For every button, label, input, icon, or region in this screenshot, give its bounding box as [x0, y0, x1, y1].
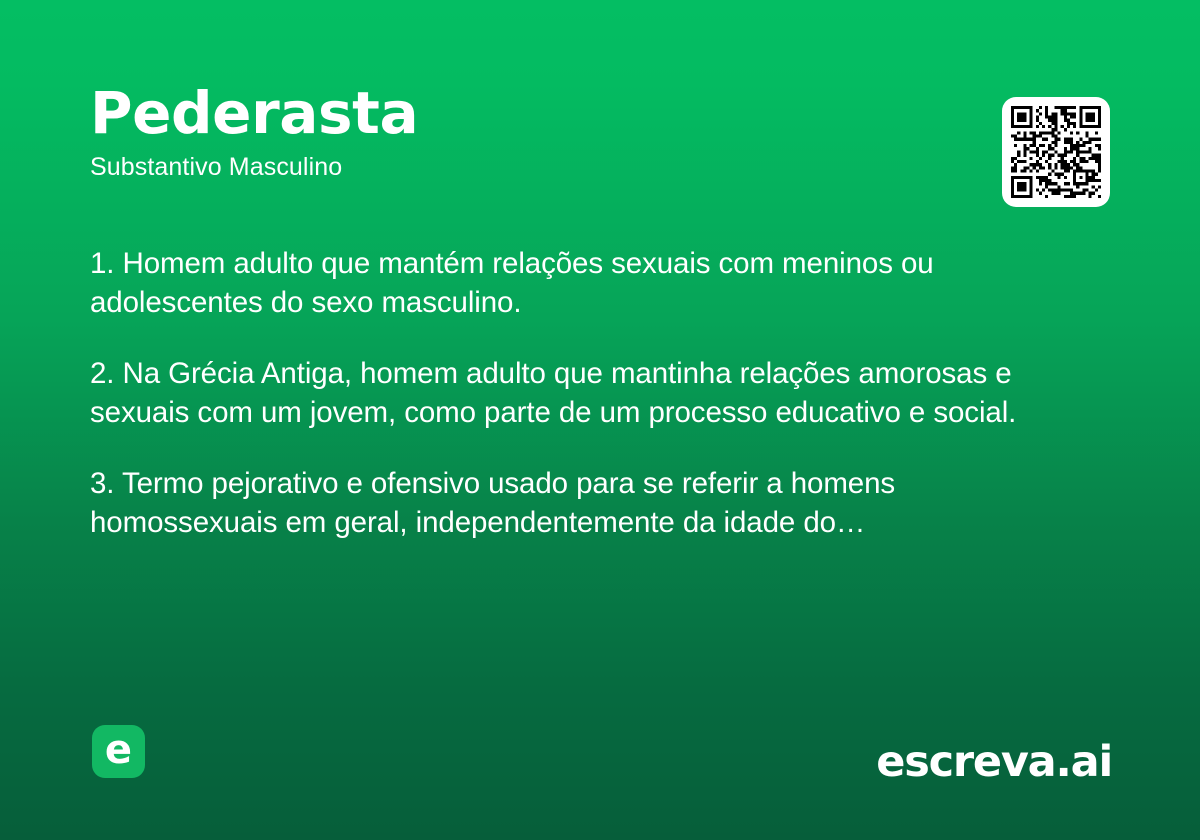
word-class-label: Substantivo Masculino — [90, 154, 1110, 182]
qr-code-block[interactable] — [1002, 97, 1110, 207]
definition-item: 2. Na Grécia Antiga, homem adulto que ma… — [90, 355, 1085, 433]
definition-item: 1. Homem adulto que mantém relações sexu… — [90, 245, 1085, 323]
page-title: Pederasta — [90, 84, 1110, 142]
card-header: Pederasta Substantivo Masculino — [90, 84, 1110, 182]
qr-code-icon — [1011, 106, 1101, 198]
definition-item: 3. Termo pejorativo e ofensivo usado par… — [90, 465, 1085, 543]
definition-card: Pederasta Substantivo Masculino 1. Homem… — [0, 0, 1200, 840]
definition-list: 1. Homem adulto que mantém relações sexu… — [90, 245, 1085, 543]
brand-wordmark: escreva.ai — [876, 741, 1112, 784]
brand-logo-letter: e — [105, 730, 132, 770]
brand-logo-badge: e — [92, 725, 145, 778]
